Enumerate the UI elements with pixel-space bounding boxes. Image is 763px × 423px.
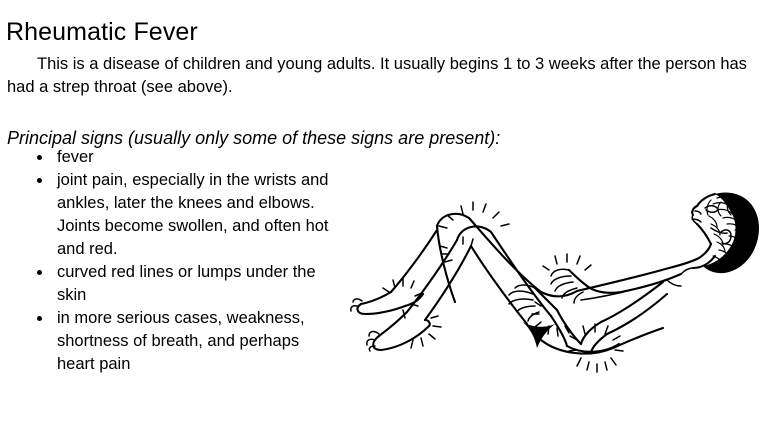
bullet-icon [37, 270, 42, 275]
list-item: fever [0, 146, 330, 169]
bullet-icon [37, 155, 42, 160]
reclining-child-illustration [345, 188, 763, 373]
list-item: joint pain, especially in the wrists and… [0, 169, 330, 261]
page-title: Rheumatic Fever [6, 17, 198, 47]
bullet-icon [37, 316, 42, 321]
intro-paragraph: This is a disease of children and young … [7, 53, 759, 99]
pain-rays-wrist [543, 254, 591, 270]
list-item: curved red lines or lumps under the skin [0, 261, 330, 307]
list-item: in more serious cases, weakness, shortne… [0, 307, 330, 376]
principal-signs-list: fever joint pain, especially in the wris… [0, 146, 330, 376]
list-item-label: curved red lines or lumps under the skin [57, 261, 330, 307]
list-item-label: in more serious cases, weakness, shortne… [57, 307, 330, 376]
bullet-icon [37, 178, 42, 183]
page-canvas: Rheumatic Fever This is a disease of chi… [0, 0, 763, 423]
list-item-label: fever [57, 146, 330, 169]
list-item-label: joint pain, especially in the wrists and… [57, 169, 330, 261]
